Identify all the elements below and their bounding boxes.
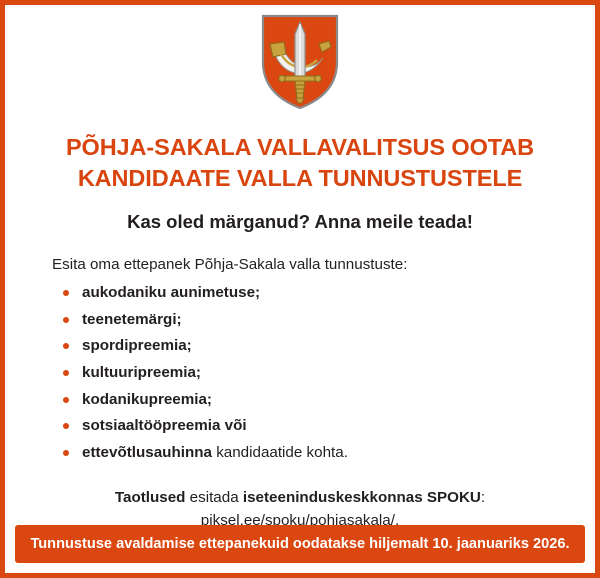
bullet-dot-icon: [63, 317, 69, 323]
bullet-dot-icon: [63, 343, 69, 349]
deadline-banner: Tunnustuse avaldamise ettepanekuid oodat…: [15, 525, 585, 563]
title-line-1: PÕHJA-SAKALA VALLAVALITSUS OOTAB: [5, 132, 595, 163]
list-item-label: aukodaniku aunimetuse;: [82, 284, 260, 301]
list-item-label: kodanikupreemia;: [82, 391, 212, 408]
list-item-label: kultuuripreemia;: [82, 364, 201, 381]
list-item-label: teenetemärgi;: [82, 311, 182, 328]
list-item: sotsiaaltööpreemia või: [52, 416, 555, 436]
intro-text: Esita oma ettepanek Põhja-Sakala valla t…: [52, 255, 555, 275]
list-item-label: ettevõtlusauhinna: [82, 444, 212, 461]
apply-service-name: iseteeninduskeskkonnas SPOKU: [243, 489, 481, 506]
awards-list: aukodaniku aunimetuse; teenetemärgi; spo…: [52, 283, 555, 462]
apply-colon: :: [481, 489, 485, 506]
bullet-dot-icon: [63, 290, 69, 296]
page-title: PÕHJA-SAKALA VALLAVALITSUS OOTAB KANDIDA…: [5, 132, 595, 195]
coat-of-arms-shield-icon: [261, 14, 339, 110]
list-item: kultuuripreemia;: [52, 363, 555, 383]
bullet-dot-icon: [63, 423, 69, 429]
list-item: teenetemärgi;: [52, 310, 555, 330]
list-item: kodanikupreemia;: [52, 390, 555, 410]
list-item-suffix: kandidaatide kohta.: [212, 444, 348, 461]
apply-lead: Taotlused: [115, 489, 186, 506]
title-line-2: KANDIDAATE VALLA TUNNUSTUSTELE: [5, 163, 595, 194]
deadline-text: Tunnustuse avaldamise ettepanekuid oodat…: [30, 536, 569, 552]
body-block: Esita oma ettepanek Põhja-Sakala valla t…: [5, 255, 595, 470]
list-item: ettevõtlusauhinna kandidaatide kohta.: [52, 443, 555, 463]
bullet-dot-icon: [63, 397, 69, 403]
announcement-poster: PÕHJA-SAKALA VALLAVALITSUS OOTAB KANDIDA…: [0, 0, 600, 578]
list-item: aukodaniku aunimetuse;: [52, 283, 555, 303]
subtitle: Kas oled märganud? Anna meile teada!: [5, 211, 595, 233]
list-item-label: sotsiaaltööpreemia või: [82, 417, 247, 434]
list-item-label: spordipreemia;: [82, 337, 192, 354]
bullet-dot-icon: [63, 370, 69, 376]
apply-middle: esitada: [185, 489, 242, 506]
list-item: spordipreemia;: [52, 336, 555, 356]
bullet-dot-icon: [63, 450, 69, 456]
